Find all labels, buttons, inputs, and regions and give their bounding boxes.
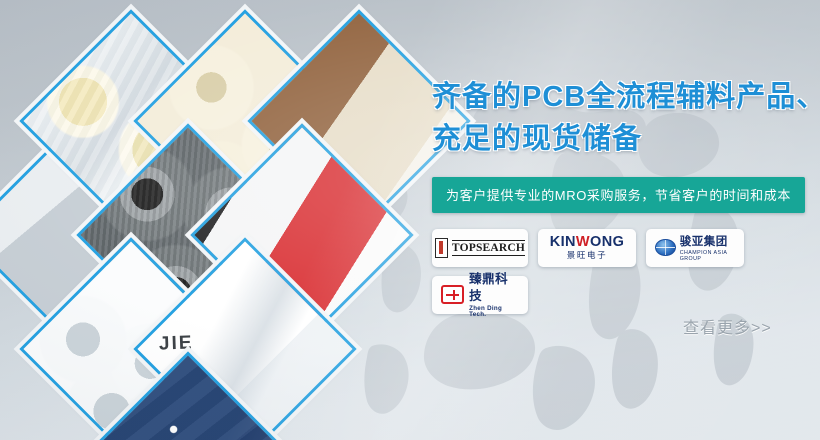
kinwong-wordmark-part2: ONG xyxy=(590,234,624,250)
kinwong-wordmark-accent: W xyxy=(576,234,590,250)
headline-line-2: 充足的现货储备 xyxy=(432,118,820,160)
collage-tile-tape-rolls xyxy=(19,9,242,232)
zhen-ding-mark-icon xyxy=(441,285,464,304)
champion-asia-subtext: CHAMPION ASIA GROUP xyxy=(680,251,735,262)
headline-line-1: 齐备的PCB全流程辅料产品、 xyxy=(432,81,820,113)
logo-badge-kinwong[interactable]: KINWONG 景旺电子 xyxy=(538,229,636,267)
kinwong-wordmark-part1: KIN xyxy=(550,234,576,250)
topsearch-wordmark: TOPSEARCH xyxy=(452,240,525,256)
collage-tile-nylon-spacers xyxy=(133,9,356,232)
collage-tile-navy-panel xyxy=(76,351,299,440)
product-photo-collage: JIE xyxy=(0,0,430,440)
collage-tile-color-sheets xyxy=(190,123,413,346)
logo-badge-zhen-ding[interactable]: 臻鼎科技 Zhen Ding Tech. xyxy=(432,276,528,314)
banner-content: 齐备的PCB全流程辅料产品、 充足的现货储备 为客户提供专业的MRO采购服务，节… xyxy=(432,76,820,314)
collage-tile-brush-rolls xyxy=(76,123,299,346)
zhen-ding-wordmark: 臻鼎科技 xyxy=(469,272,508,303)
logo-badge-topsearch[interactable]: TOPSEARCH xyxy=(432,229,528,267)
collage-tile-jie-label: JIE xyxy=(159,332,194,355)
collage-tile-film-rolls xyxy=(19,237,242,440)
logo-badge-champion-asia[interactable]: 骏亚集团 CHAMPION ASIA GROUP xyxy=(646,229,744,267)
topsearch-mark-icon xyxy=(435,238,448,258)
page-title: 齐备的PCB全流程辅料产品、 充足的现货储备 xyxy=(432,76,820,161)
subtitle-bar: 为客户提供专业的MRO采购服务，节省客户的时间和成本 xyxy=(432,177,805,213)
client-logo-list: TOPSEARCH KINWONG 景旺电子 骏亚集团 CHAMPION ASI… xyxy=(432,229,808,314)
collage-tile-jie-sheets: JIE xyxy=(133,237,356,440)
collage-tile-edge-sliver xyxy=(0,123,186,346)
kinwong-wordmark: KINWONG xyxy=(550,235,625,251)
promo-banner: JIE 齐备的PCB全流程辅料产品、 充足的现货储备 为客户提供专业的MRO采购… xyxy=(0,0,820,440)
champion-asia-globe-icon xyxy=(655,239,676,256)
kinwong-subtext: 景旺电子 xyxy=(550,251,625,260)
view-more-link[interactable]: 查看更多>> xyxy=(683,314,772,338)
champion-asia-wordmark: 骏亚集团 xyxy=(680,236,728,248)
zhen-ding-subtext: Zhen Ding Tech. xyxy=(469,306,519,319)
